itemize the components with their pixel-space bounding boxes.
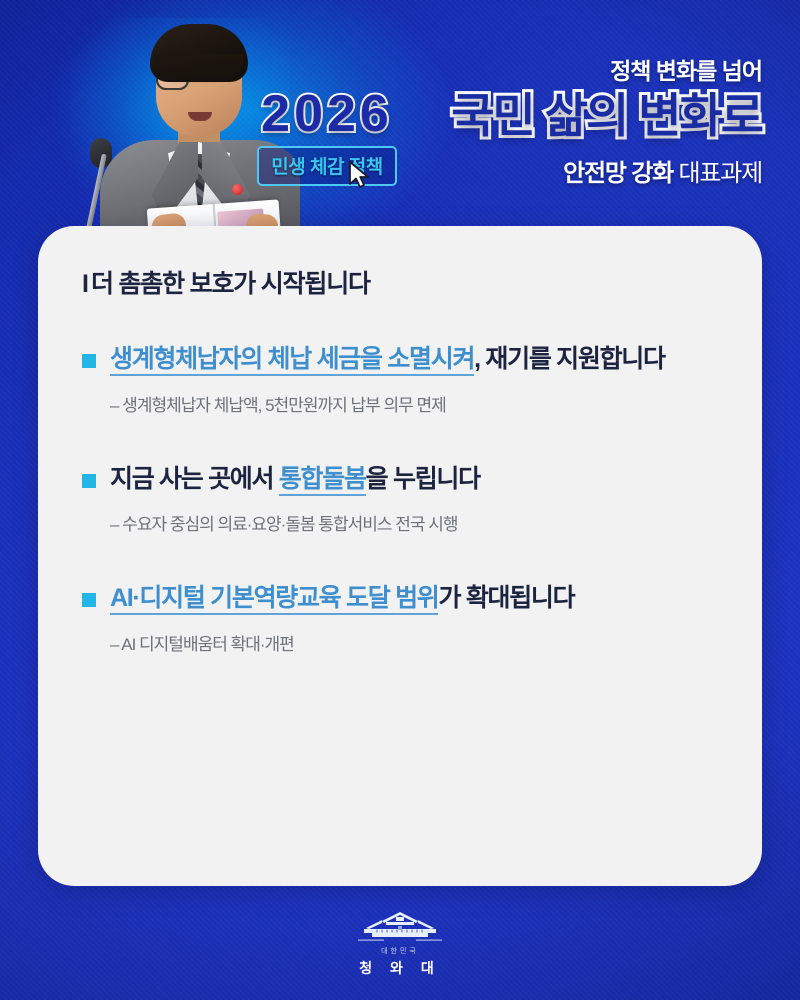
content-card: I더 촘촘한 보호가 시작됩니다 생계형체납자의 체납 세금을 소멸시켜, 재기… bbox=[38, 226, 762, 886]
bullet-item: 지금 사는 곳에서 통합돌봄을 누립니다 – 수요자 중심의 의료·요양·돌봄 … bbox=[82, 462, 718, 536]
bullet-headline: 지금 사는 곳에서 통합돌봄을 누립니다 bbox=[110, 462, 480, 498]
subline-light: 대표과제 bbox=[678, 160, 762, 187]
footer: 대한민국 청 와 대 bbox=[0, 909, 800, 978]
bullet-highlight: 생계형체납자의 체납 세금을 소멸시켜 bbox=[110, 345, 474, 376]
square-bullet-icon bbox=[82, 593, 96, 607]
headline-kicker: 정책 변화를 넘어 bbox=[451, 52, 762, 86]
year-number: 2026 bbox=[232, 88, 422, 140]
bullet-headline: 생계형체납자의 체납 세금을 소멸시켜, 재기를 지원합니다 bbox=[110, 342, 665, 378]
bullet-item: 생계형체납자의 체납 세금을 소멸시켜, 재기를 지원합니다 – 생계형체납자 … bbox=[82, 342, 718, 416]
bullet-subtext: – AI 디지털배움터 확대·개편 bbox=[110, 630, 718, 655]
bullet-highlight: AI·디지털 기본역량교육 도달 범위 bbox=[110, 584, 438, 615]
year-badge-block: 2026 민생 체감 정책 bbox=[232, 88, 422, 186]
bullet-headline: AI·디지털 기본역량교육 도달 범위가 확대됩니다 bbox=[110, 581, 574, 617]
bullet-subtext: – 생계형체납자 체납액, 5천만원까지 납부 의무 면제 bbox=[110, 391, 718, 416]
policy-badge: 민생 체감 정책 bbox=[257, 146, 396, 186]
bullet-subtext: – 수요자 중심의 의료·요양·돌봄 통합서비스 전국 시행 bbox=[110, 510, 718, 535]
bullet-list: 생계형체납자의 체납 세금을 소멸시켜, 재기를 지원합니다 – 생계형체납자 … bbox=[82, 342, 718, 655]
square-bullet-icon bbox=[82, 474, 96, 488]
card-title-text: 더 촘촘한 보호가 시작됩니다 bbox=[91, 270, 370, 298]
bullet-headline-row: 생계형체납자의 체납 세금을 소멸시켜, 재기를 지원합니다 bbox=[82, 342, 718, 378]
square-bullet-icon bbox=[82, 354, 96, 368]
bullet-prefix: 지금 사는 곳에서 bbox=[110, 465, 279, 493]
bullet-highlight: 통합돌봄 bbox=[279, 465, 366, 496]
card-title: I더 촘촘한 보호가 시작됩니다 bbox=[82, 264, 718, 300]
card-title-bar: I bbox=[82, 270, 91, 298]
bullet-rest: 을 누립니다 bbox=[366, 465, 480, 493]
main-headline: 국민 삶의 변화로 bbox=[451, 90, 762, 143]
photo-hair bbox=[150, 24, 248, 82]
emblem-country: 대한민국 bbox=[381, 946, 419, 956]
bullet-headline-row: 지금 사는 곳에서 통합돌봄을 누립니다 bbox=[82, 462, 718, 498]
subline-strong: 안전망 강화 bbox=[563, 160, 673, 187]
blue-house-emblem-icon bbox=[352, 909, 448, 943]
bullet-rest: 가 확대됩니다 bbox=[438, 584, 574, 612]
bullet-item: AI·디지털 기본역량교육 도달 범위가 확대됩니다 – AI 디지털배움터 확… bbox=[82, 581, 718, 655]
headline-subline: 안전망 강화 대표과제 bbox=[451, 153, 762, 188]
headline-block: 정책 변화를 넘어 국민 삶의 변화로 안전망 강화 대표과제 bbox=[451, 52, 762, 188]
mouse-cursor-icon bbox=[347, 160, 373, 190]
bullet-rest: , 재기를 지원합니다 bbox=[474, 345, 665, 373]
emblem-organization: 청 와 대 bbox=[359, 958, 440, 978]
bullet-headline-row: AI·디지털 기본역량교육 도달 범위가 확대됩니다 bbox=[82, 581, 718, 617]
